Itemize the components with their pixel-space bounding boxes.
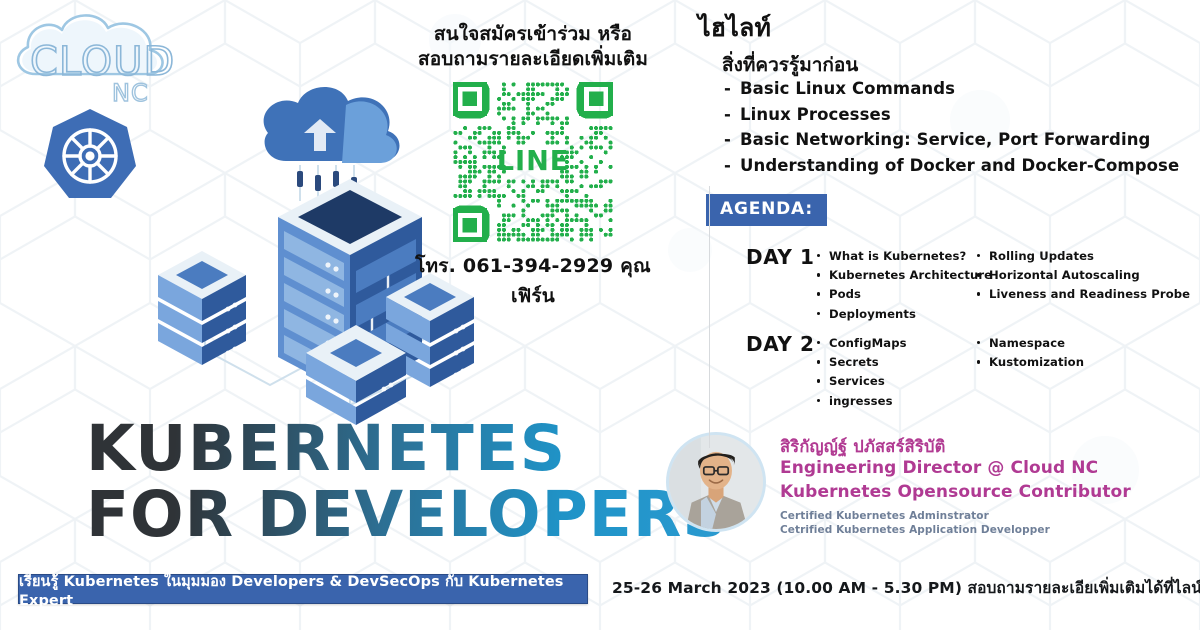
dash-bullet: - — [724, 76, 740, 102]
day-2-column-1: ConfigMaps Secrets Services ingresses — [816, 334, 976, 411]
prereq-text: Linux Processes — [740, 105, 891, 124]
list-item: ingresses — [816, 392, 976, 411]
dash-bullet: - — [724, 102, 740, 128]
event-poster: CLOUD NC — [0, 0, 1200, 630]
list-item: What is Kubernetes? — [816, 247, 976, 266]
tagline-text: เรียนรู้ Kubernetes ในมุมมอง Developers … — [19, 570, 587, 609]
list-item: -Basic Networking: Service, Port Forward… — [724, 127, 1200, 153]
title-line-2: FOR DEVELOPERS — [86, 484, 729, 546]
day-1-column-2: Rolling Updates Horizontal Autoscaling L… — [976, 247, 1200, 324]
speaker-cert-1: Certified Kubernetes Adminstrator — [780, 510, 989, 522]
list-item: ConfigMaps — [816, 334, 976, 353]
list-item: Namespace — [976, 334, 1200, 353]
day-1-columns: What is Kubernetes? Kubernetes Architect… — [816, 247, 1200, 324]
list-item: Liveness and Readiness Probe — [976, 285, 1200, 304]
cloud-nc-logo: CLOUD NC — [8, 2, 180, 112]
dash-bullet: - — [724, 127, 740, 153]
list-item: Horizontal Autoscaling — [976, 266, 1200, 285]
contact-phone: โทร. 061-394-2929 คุณเฟิร์น — [398, 251, 668, 311]
list-item: Secrets — [816, 353, 976, 372]
list-item: Kustomization — [976, 353, 1200, 372]
svg-text:CLOUD: CLOUD — [30, 39, 175, 85]
event-date-time: 25-26 March 2023 (10.00 AM - 5.30 PM) สอ… — [612, 575, 1200, 600]
list-item: -Basic Linux Commands — [724, 76, 1200, 102]
kubernetes-logo-icon — [40, 104, 140, 204]
list-item: Services — [816, 372, 976, 391]
prerequisites-list: -Basic Linux Commands -Linux Processes -… — [724, 76, 1200, 179]
day-label: DAY 1 — [746, 245, 815, 269]
speaker-cert-2: Cetrified Kubernetes Application Develop… — [780, 524, 1050, 536]
speaker-name: สิริกัญญ์ฐ์ ปภัสสร์สิริบัติ — [780, 434, 946, 460]
prereq-text: Basic Networking: Service, Port Forwardi… — [740, 130, 1150, 149]
day-1-column-1: What is Kubernetes? Kubernetes Architect… — [816, 247, 976, 324]
avatar-photo — [669, 435, 763, 529]
dash-bullet: - — [724, 153, 740, 179]
tagline-ribbon: เรียนรู้ Kubernetes ในมุมมอง Developers … — [18, 574, 588, 604]
highlight-heading: ไฮไลท์ — [698, 8, 771, 48]
day-2-columns: ConfigMaps Secrets Services ingresses Na… — [816, 334, 1200, 411]
list-item: Rolling Updates — [976, 247, 1200, 266]
title-line-1: KUBERNETES — [86, 418, 729, 480]
line-qr-code[interactable]: LINE — [453, 82, 613, 242]
prereq-text: Basic Linux Commands — [740, 79, 955, 98]
qr-headline-line2: สอบถามรายละเอียดเพิ่มเติม — [398, 47, 668, 72]
right-content-column: ไฮไลท์ สิ่งที่ควรรู้มาก่อน -Basic Linux … — [688, 0, 1200, 630]
list-item: Deployments — [816, 305, 976, 324]
qr-contact-block: สนใจสมัครเข้าร่วม หรือ สอบถามรายละเอียดเ… — [398, 22, 668, 311]
qr-headline-line1: สนใจสมัครเข้าร่วม หรือ — [398, 22, 668, 47]
vertical-divider — [709, 186, 710, 448]
speaker-role: Engineering Director @ Cloud NC — [780, 458, 1098, 478]
day-label: DAY 2 — [746, 332, 815, 356]
list-item: -Understanding of Docker and Docker-Comp… — [724, 153, 1200, 179]
list-item: -Linux Processes — [724, 102, 1200, 128]
list-item: Kubernetes Architecture — [816, 266, 976, 285]
svg-text:NC: NC — [112, 79, 149, 107]
speaker-role-secondary: Kubernetes Opensource Contributor — [780, 482, 1131, 502]
poster-title: KUBERNETES FOR DEVELOPERS — [86, 418, 729, 545]
agenda-badge: AGENDA: — [706, 194, 827, 226]
speaker-avatar — [666, 432, 766, 532]
qr-line-wordmark: LINE — [497, 146, 570, 177]
day-2-column-2: Namespace Kustomization — [976, 334, 1200, 411]
list-item: Pods — [816, 285, 976, 304]
prereq-text: Understanding of Docker and Docker-Compo… — [740, 156, 1179, 175]
speaker-block: สิริกัญญ์ฐ์ ปภัสสร์สิริบัติ Engineering … — [688, 430, 1200, 550]
